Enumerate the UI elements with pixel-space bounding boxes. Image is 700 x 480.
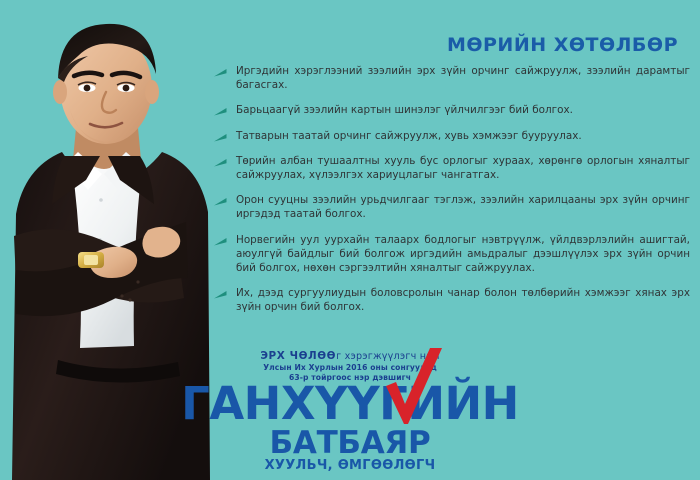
election-subtitle-line1: Улсын Их Хурлын 2016 оны сонгуульд xyxy=(0,363,700,372)
triangle-arrow-icon xyxy=(214,286,236,299)
page-title: МӨРИЙН ХӨТӨЛБӨР xyxy=(447,34,678,56)
triangle-arrow-icon xyxy=(214,193,236,206)
list-item: Норвегийн уул уурхайн талаарх бодлогыг н… xyxy=(214,233,690,276)
list-item: Иргэдийн хэрэглээний зээлийн эрх зүйн ор… xyxy=(214,64,690,92)
list-item-text: Барьцаагүй зээлийн картын шинэлэг үйлчил… xyxy=(236,103,690,117)
triangle-arrow-icon xyxy=(214,129,236,142)
triangle-arrow-icon xyxy=(214,154,236,167)
triangle-arrow-icon xyxy=(214,103,236,116)
list-item-text: Орон сууцны зээлийн урьдчилгааг тэглэж, … xyxy=(236,193,690,221)
list-item: Орон сууцны зээлийн урьдчилгааг тэглэж, … xyxy=(214,193,690,221)
party-name-strong: ЭРХ ЧӨЛӨӨ xyxy=(260,350,336,362)
triangle-arrow-icon xyxy=(214,64,236,77)
candidate-surname: БАТБАЯР xyxy=(0,426,700,460)
candidate-given-name: ГАНХҮҮГИЙН xyxy=(0,380,700,428)
list-item: Татварын таатай орчинг сайжруулж, хувь х… xyxy=(214,129,690,143)
triangle-arrow-icon xyxy=(214,233,236,246)
list-item: Төрийн албан тушаалтны хууль бус орлогыг… xyxy=(214,154,690,182)
list-item-text: Их, дээд сургуулиудын боловсролын чанар … xyxy=(236,286,690,314)
list-item: Их, дээд сургуулиудын боловсролын чанар … xyxy=(214,286,690,314)
campaign-banner: ЭРХ ЧӨЛӨӨг хэрэгжүүлэгч нам Улсын Их Хур… xyxy=(0,350,700,480)
list-item-text: Норвегийн уул уурхайн талаарх бодлогыг н… xyxy=(236,233,690,276)
list-item-text: Төрийн албан тушаалтны хууль бус орлогыг… xyxy=(236,154,690,182)
candidate-profession: ХУУЛЬЧ, ӨМГӨӨЛӨГЧ xyxy=(0,458,700,473)
list-item: Барьцаагүй зээлийн картын шинэлэг үйлчил… xyxy=(214,103,690,117)
list-item-text: Татварын таатай орчинг сайжруулж, хувь х… xyxy=(236,129,690,143)
program-list: Иргэдийн хэрэглээний зээлийн эрх зүйн ор… xyxy=(214,64,690,326)
list-item-text: Иргэдийн хэрэглээний зээлийн эрх зүйн ор… xyxy=(236,64,690,92)
party-name: ЭРХ ЧӨЛӨӨг хэрэгжүүлэгч нам xyxy=(0,350,700,362)
party-name-rest: г хэрэгжүүлэгч нам xyxy=(336,351,440,362)
